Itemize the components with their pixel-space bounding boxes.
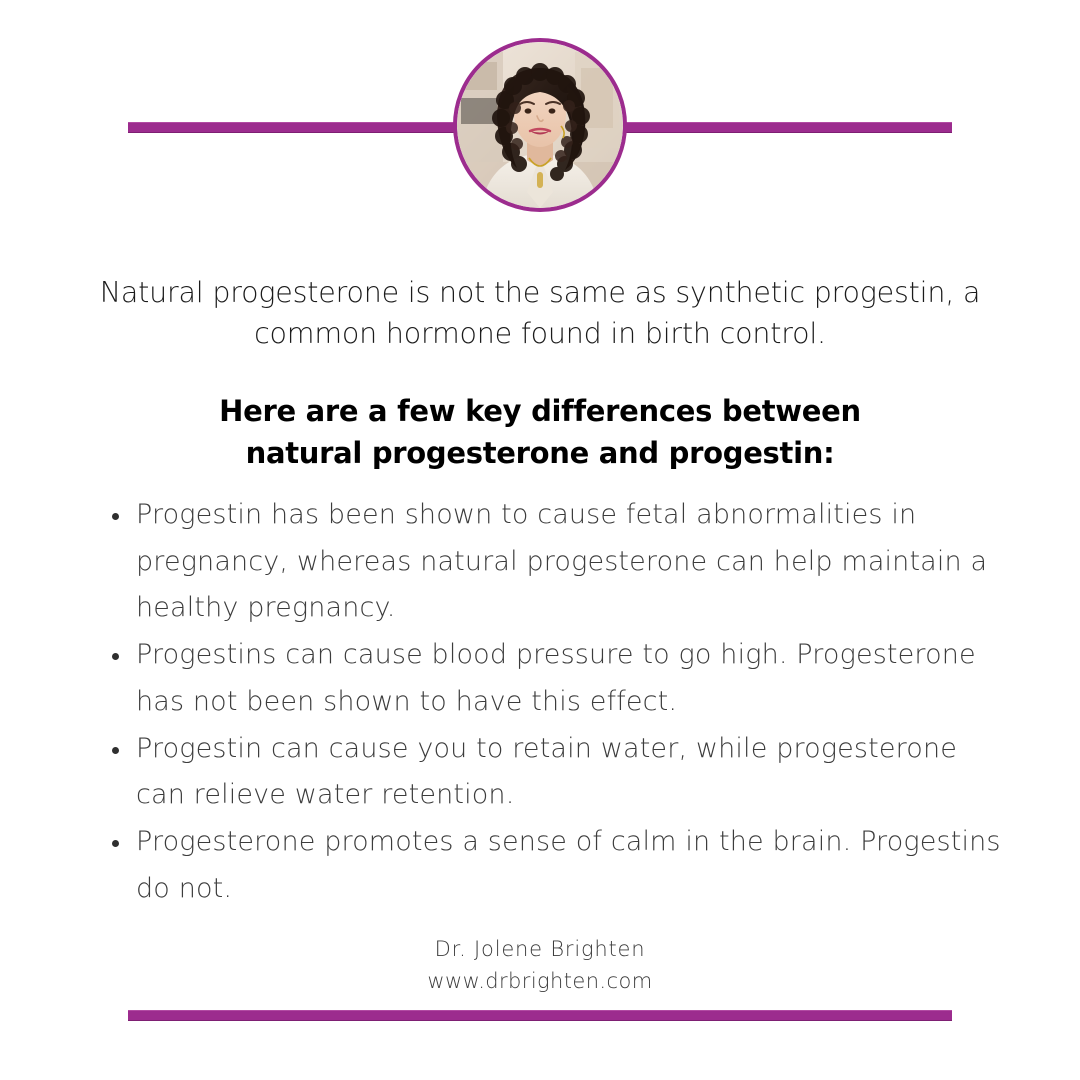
website-url[interactable]: www.drbrighten.com	[90, 965, 990, 997]
bottom-divider-rule	[128, 1010, 952, 1021]
heading-line-1: Here are a few key differences between	[219, 394, 861, 428]
intro-paragraph: Natural progesterone is not the same as …	[90, 272, 990, 354]
author-name: Dr. Jolene Brighten	[435, 937, 646, 961]
heading-line-2: natural progesterone and progestin:	[246, 436, 835, 470]
list-item: Progesterone promotes a sense of calm in…	[104, 819, 1004, 912]
list-item: Progestin has been shown to cause fetal …	[104, 492, 1004, 632]
avatar	[453, 38, 627, 212]
avatar-photo	[457, 42, 623, 208]
infographic-card: Natural progesterone is not the same as …	[0, 0, 1080, 1080]
page-title: Here are a few key differences between n…	[90, 390, 990, 474]
list-item: Progestins can cause blood pressure to g…	[104, 632, 1004, 725]
header	[0, 0, 1080, 232]
differences-list: Progestin has been shown to cause fetal …	[104, 492, 1004, 913]
list-item: Progestin can cause you to retain water,…	[104, 726, 1004, 819]
credit-block: Dr. Jolene Brighten www.drbrighten.com	[90, 933, 990, 997]
